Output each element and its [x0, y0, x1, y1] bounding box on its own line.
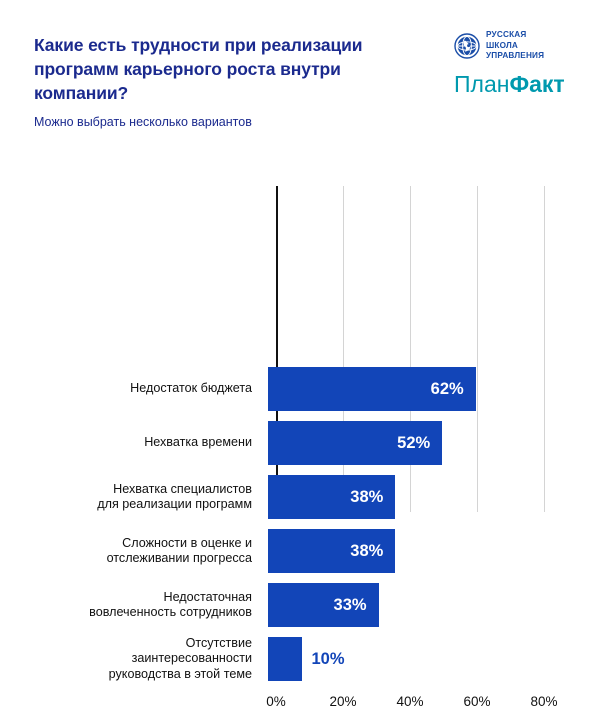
bar-row: Нехватка специалистовдля реализации прог… [0, 470, 600, 524]
bar-value-label: 38% [345, 524, 383, 578]
bar-value-label: 62% [426, 362, 464, 416]
bar-row: Недостаточнаявовлеченность сотрудников33… [0, 578, 600, 632]
bar-track: 62% [266, 362, 600, 416]
category-label-line: Отсутствие [0, 636, 252, 651]
bar-value-label: 52% [392, 416, 430, 470]
category-label-line: вовлеченность сотрудников [0, 605, 252, 620]
rsu-logo-line-1: РУССКАЯ [486, 30, 544, 41]
rsu-logo: РУССКАЯ ШКОЛА УПРАВЛЕНИЯ [454, 30, 572, 62]
category-label-line: Нехватка специалистов [0, 482, 252, 497]
category-label: Нехватка времени [0, 435, 266, 450]
bar-value-label: 33% [329, 578, 367, 632]
category-label-line: отслеживании прогресса [0, 551, 252, 566]
planfact-logo: ПланФакт [454, 73, 572, 96]
logo-group: РУССКАЯ ШКОЛА УПРАВЛЕНИЯ ПланФакт [454, 30, 572, 96]
bar-value-label: 38% [345, 470, 383, 524]
category-label: Сложности в оценке иотслеживании прогрес… [0, 536, 266, 567]
page-title: Какие есть трудности при реализации прог… [34, 33, 434, 105]
bar-track: 52% [266, 416, 600, 470]
rsu-logo-line-3: УПРАВЛЕНИЯ [486, 51, 544, 62]
bar-track: 38% [266, 470, 600, 524]
category-label: Недостаточнаявовлеченность сотрудников [0, 590, 266, 621]
chart-subtitle: Можно выбрать несколько вариантов [34, 114, 434, 130]
x-tick-label: 60% [463, 694, 490, 709]
bar-value-label: 10% [312, 632, 345, 686]
bar[interactable] [268, 637, 302, 681]
category-label-line: для реализации программ [0, 497, 252, 512]
planfact-logo-fakt: Факт [509, 71, 564, 97]
title-block: Какие есть трудности при реализации прог… [34, 33, 434, 131]
category-label-line: заинтересованности [0, 651, 252, 666]
bar-row: Нехватка времени52% [0, 416, 600, 470]
bar-track: 10% [266, 632, 600, 686]
bar-row: Отсутствиезаинтересованностируководства … [0, 632, 600, 686]
chart-header: Какие есть трудности при реализации прог… [0, 0, 600, 160]
bar-rows: Недостаток бюджета62%Нехватка времени52%… [0, 362, 600, 686]
category-label-line: Нехватка времени [0, 435, 252, 450]
globe-emblem-icon [454, 33, 480, 59]
category-label-line: Сложности в оценке и [0, 536, 252, 551]
category-label-line: Недостаток бюджета [0, 381, 252, 396]
bar-track: 38% [266, 524, 600, 578]
bar-track: 33% [266, 578, 600, 632]
category-label: Недостаток бюджета [0, 381, 266, 396]
bar-chart: Недостаток бюджета62%Нехватка времени52%… [0, 176, 600, 556]
rsu-logo-line-2: ШКОЛА [486, 41, 544, 52]
category-label: Нехватка специалистовдля реализации прог… [0, 482, 266, 513]
x-tick-label: 20% [329, 694, 356, 709]
x-axis-ticks: 0%20%40%60%80% [0, 694, 600, 720]
x-tick-label: 0% [266, 694, 286, 709]
rsu-logo-text: РУССКАЯ ШКОЛА УПРАВЛЕНИЯ [486, 30, 544, 62]
category-label: Отсутствиезаинтересованностируководства … [0, 636, 266, 682]
category-label-line: руководства в этой теме [0, 667, 252, 682]
x-tick-label: 40% [396, 694, 423, 709]
category-label-line: Недостаточная [0, 590, 252, 605]
bar-row: Сложности в оценке иотслеживании прогрес… [0, 524, 600, 578]
x-tick-label: 80% [530, 694, 557, 709]
bar-row: Недостаток бюджета62% [0, 362, 600, 416]
planfact-logo-plan: План [454, 71, 509, 97]
